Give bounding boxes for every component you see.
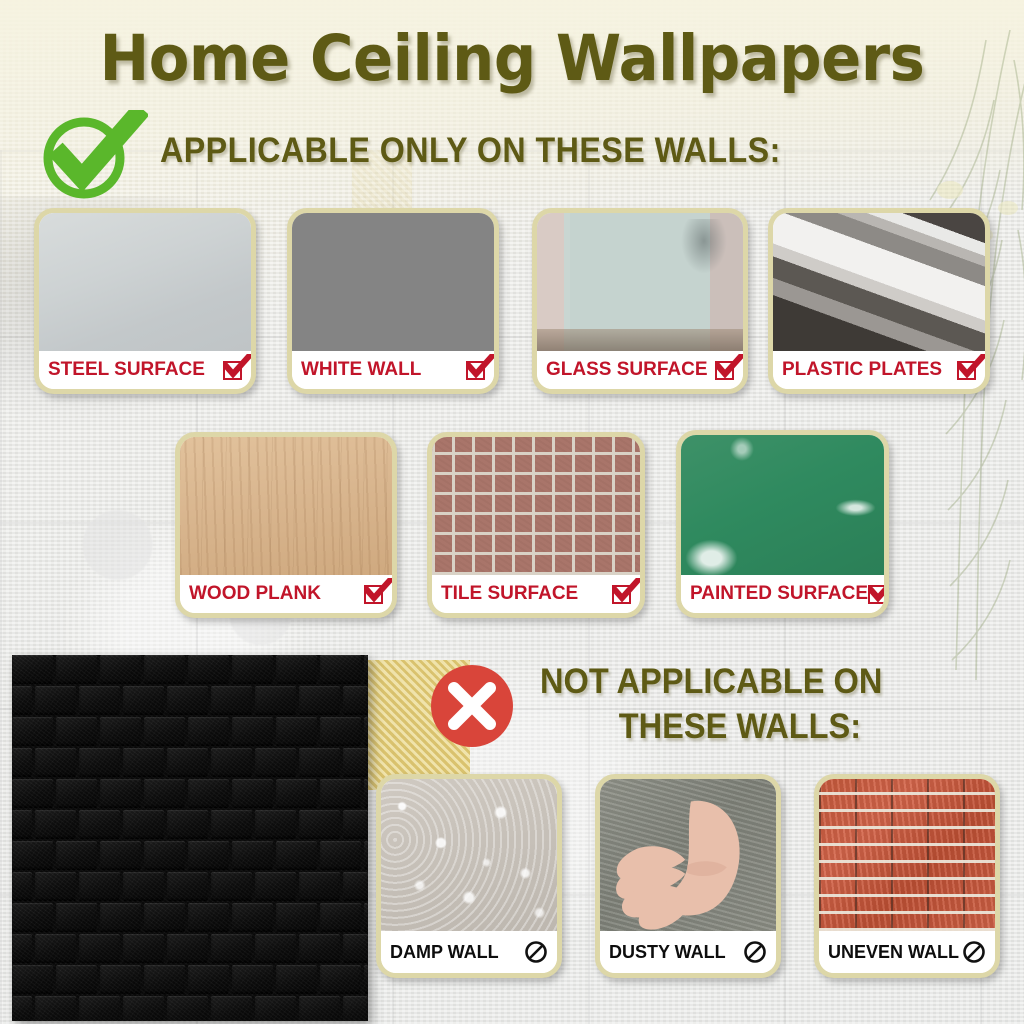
card-label-bar: DUSTY WALL (600, 931, 776, 973)
card-label: WHITE WALL (301, 359, 421, 381)
card-label: PAINTED SURFACE (690, 583, 868, 605)
card-photo-glass-surface (537, 213, 743, 351)
card-photo-white-wall (292, 213, 494, 351)
hand-illustration-icon (600, 779, 776, 931)
card-photo-damp-wall (381, 779, 557, 931)
card-label-bar: DAMP WALL (381, 931, 557, 973)
black-brick-wallpaper-panel (12, 655, 368, 1021)
card-label: DUSTY WALL (609, 942, 726, 963)
card-plastic-plates[interactable]: PLASTIC PLATES (768, 208, 990, 394)
page-title: Home Ceiling Wallpapers (31, 22, 994, 95)
red-check-box-icon (868, 585, 887, 604)
card-label-bar: GLASS SURFACE (537, 351, 743, 389)
card-photo-steel-surface (39, 213, 251, 351)
card-dusty-wall[interactable]: DUSTY WALL (595, 774, 781, 978)
card-photo-plastic-plates (773, 213, 985, 351)
card-wood-plank[interactable]: WOOD PLANK (175, 432, 397, 618)
not-applicable-heading: NOT APPLICABLE ON THESE WALLS: (540, 659, 977, 749)
not-applicable-heading-line1: NOT APPLICABLE ON (540, 662, 882, 701)
card-photo-tile-surface (432, 437, 640, 575)
card-white-wall[interactable]: WHITE WALL (287, 208, 499, 394)
card-label-bar: PAINTED SURFACE (681, 575, 884, 613)
card-label-bar: WHITE WALL (292, 351, 494, 389)
not-applicable-heading-line2: THESE WALLS: (540, 704, 940, 749)
no-entry-icon (524, 940, 548, 964)
card-label: DAMP WALL (390, 942, 499, 963)
card-tile-surface[interactable]: TILE SURFACE (427, 432, 645, 618)
card-glass-surface[interactable]: GLASS SURFACE (532, 208, 748, 394)
green-check-circle-icon (36, 110, 148, 202)
red-check-box-icon (715, 361, 734, 380)
card-label: WOOD PLANK (189, 583, 321, 605)
card-label: STEEL SURFACE (48, 359, 205, 381)
red-check-box-icon (223, 361, 242, 380)
card-painted-surface[interactable]: PAINTED SURFACE (676, 430, 889, 618)
card-damp-wall[interactable]: DAMP WALL (376, 774, 562, 978)
card-steel-surface[interactable]: STEEL SURFACE (34, 208, 256, 394)
poster-root: Home Ceiling Wallpapers APPLICABLE ONLY … (0, 0, 1024, 1024)
red-x-circle-icon (428, 662, 516, 750)
no-entry-icon (962, 940, 986, 964)
card-label-bar: WOOD PLANK (180, 575, 392, 613)
red-check-box-icon (466, 361, 485, 380)
applicable-heading: APPLICABLE ONLY ON THESE WALLS: (160, 131, 781, 171)
card-photo-painted-surface (681, 435, 884, 575)
card-photo-uneven-wall (819, 779, 995, 931)
red-check-box-icon (612, 585, 631, 604)
card-photo-dusty-wall (600, 779, 776, 931)
card-label-bar: TILE SURFACE (432, 575, 640, 613)
red-check-box-icon (957, 361, 976, 380)
card-label: GLASS SURFACE (546, 359, 708, 381)
card-label: PLASTIC PLATES (782, 359, 942, 381)
card-label: UNEVEN WALL (828, 942, 959, 963)
card-uneven-wall[interactable]: UNEVEN WALL (814, 774, 1000, 978)
card-label-bar: STEEL SURFACE (39, 351, 251, 389)
card-label-bar: PLASTIC PLATES (773, 351, 985, 389)
red-check-box-icon (364, 585, 383, 604)
card-label: TILE SURFACE (441, 583, 578, 605)
no-entry-icon (743, 940, 767, 964)
card-label-bar: UNEVEN WALL (819, 931, 995, 973)
card-photo-wood-plank (180, 437, 392, 575)
